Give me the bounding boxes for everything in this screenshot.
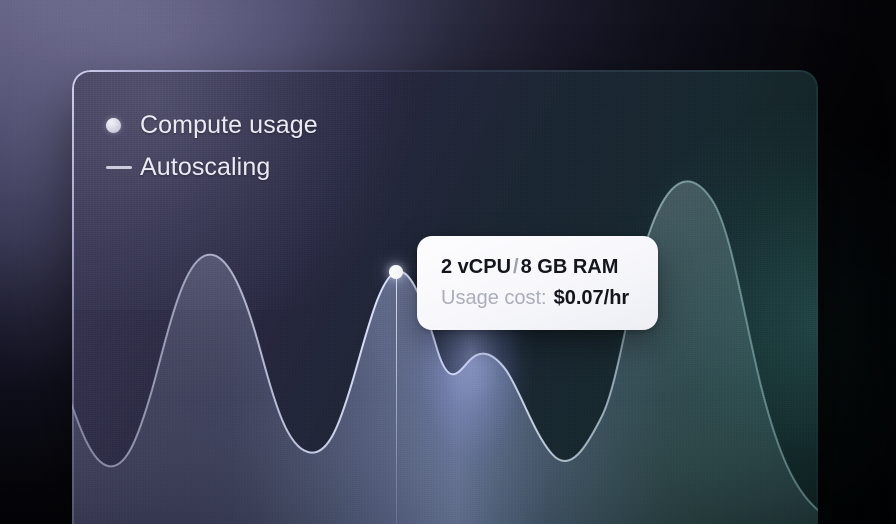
tooltip-separator: / <box>511 256 521 278</box>
chart-legend: Compute usage Autoscaling <box>106 104 318 188</box>
tooltip-cost-line: Usage cost:$0.07/hr <box>441 285 636 312</box>
legend-label-compute-usage: Compute usage <box>140 113 318 138</box>
tooltip-cost-label: Usage cost: <box>441 287 547 309</box>
tooltip-ram: 8 GB RAM <box>521 256 619 278</box>
tooltip-spec-line: 2 vCPU/8 GB RAM <box>441 254 636 281</box>
usage-chart-card: 2 vCPU/8 GB RAM Usage cost:$0.07/hr Comp… <box>72 70 818 524</box>
dot-marker-icon <box>106 118 140 133</box>
legend-item-autoscaling[interactable]: Autoscaling <box>106 146 318 188</box>
tooltip-cost-value: $0.07/hr <box>554 287 630 309</box>
tooltip-vcpu: 2 vCPU <box>441 256 511 278</box>
chart-scene: 2 vCPU/8 GB RAM Usage cost:$0.07/hr Comp… <box>0 0 896 524</box>
legend-item-compute-usage[interactable]: Compute usage <box>106 104 318 146</box>
usage-area-shade <box>72 181 818 524</box>
usage-tooltip: 2 vCPU/8 GB RAM Usage cost:$0.07/hr <box>417 236 658 330</box>
dash-marker-icon <box>106 166 140 169</box>
legend-label-autoscaling: Autoscaling <box>140 155 270 180</box>
